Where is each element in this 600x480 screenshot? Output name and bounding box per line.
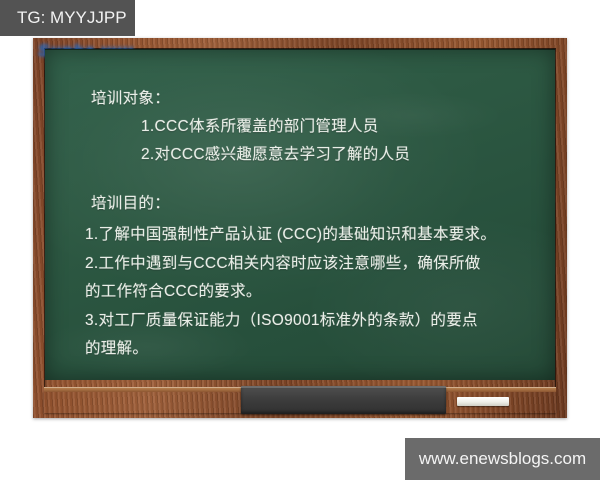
section1-heading: 培训对象： (91, 91, 170, 107)
telegram-handle-badge: TG: MYYJJPP (0, 0, 135, 36)
board-writing-surface: 培训对象： 1.CCC体系所覆盖的部门管理人员 2.对CCC感兴趣愿意去学习了解… (45, 49, 555, 380)
section2-heading: 培训目的： (91, 196, 170, 212)
website-watermark-badge: www.enewsblogs.com (405, 438, 600, 480)
section1-item-1: 1.CCC体系所覆盖的部门管理人员 (141, 119, 379, 135)
blackboard-eraser[interactable] (241, 386, 446, 414)
section2-line-1: 1.了解中国强制性产品认证 (CCC)的基础知识和基本要求。 (85, 227, 496, 243)
section2-line-3: 的工作符合CCC的要求。 (85, 284, 262, 300)
section2-line-2: 2.工作中遇到与CCC相关内容时应该注意哪些，确保所做 (85, 256, 481, 272)
blackboard: Sunba yuu 培训对象： 1.CCC体系所覆盖的部门管理人员 2.对CCC… (33, 38, 567, 418)
chalk-tray (44, 391, 556, 413)
chalk-stick[interactable] (457, 397, 509, 406)
section2-line-5: 的理解。 (85, 341, 148, 357)
chalk-text-content: 培训对象： 1.CCC体系所覆盖的部门管理人员 2.对CCC感兴趣愿意去学习了解… (45, 49, 555, 380)
section2-line-4: 3.对工厂质量保证能力（ISO9001标准外的条款）的要点 (85, 313, 478, 329)
section1-item-2: 2.对CCC感兴趣愿意去学习了解的人员 (141, 147, 410, 163)
